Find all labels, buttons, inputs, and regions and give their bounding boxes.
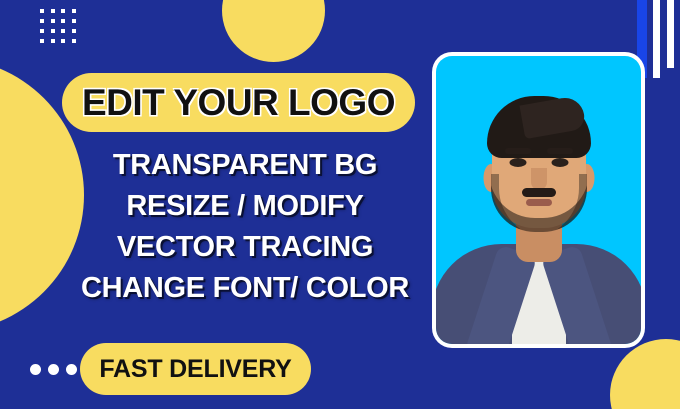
fast-delivery-label: FAST DELIVERY xyxy=(99,355,291,384)
footer-dot xyxy=(30,364,41,375)
text-content-column: EDIT YOUR LOGO TRANSPARENT BG RESIZE / M… xyxy=(0,0,430,409)
service-item: VECTOR TRACING xyxy=(70,227,420,268)
portrait-photo-frame xyxy=(432,52,645,348)
service-item: RESIZE / MODIFY xyxy=(70,186,420,227)
portrait-photo xyxy=(436,56,641,344)
footer-dot xyxy=(66,364,77,375)
portrait-mustache xyxy=(522,188,556,197)
white-vertical-stripe-decoration xyxy=(653,0,660,78)
portrait-nose xyxy=(531,168,547,190)
service-item: CHANGE FONT/ COLOR xyxy=(70,268,420,309)
yellow-circle-bottom-right-decoration xyxy=(610,339,680,409)
page-title: EDIT YOUR LOGO xyxy=(82,82,395,124)
footer-dot xyxy=(48,364,59,375)
service-list: TRANSPARENT BG RESIZE / MODIFY VECTOR TR… xyxy=(70,145,420,309)
gig-thumbnail: EDIT YOUR LOGO TRANSPARENT BG RESIZE / M… xyxy=(0,0,680,409)
title-badge: EDIT YOUR LOGO xyxy=(62,73,415,132)
portrait-eyebrow-left xyxy=(505,148,531,154)
white-vertical-stripe-decoration xyxy=(667,0,674,68)
fast-delivery-badge: FAST DELIVERY xyxy=(80,343,311,395)
service-item: TRANSPARENT BG xyxy=(70,145,420,186)
portrait-eye-right xyxy=(551,158,568,167)
portrait-eyebrow-right xyxy=(547,148,573,154)
portrait-eye-left xyxy=(509,158,526,167)
footer-dots-decoration xyxy=(30,364,77,375)
portrait-mouth xyxy=(526,199,552,206)
